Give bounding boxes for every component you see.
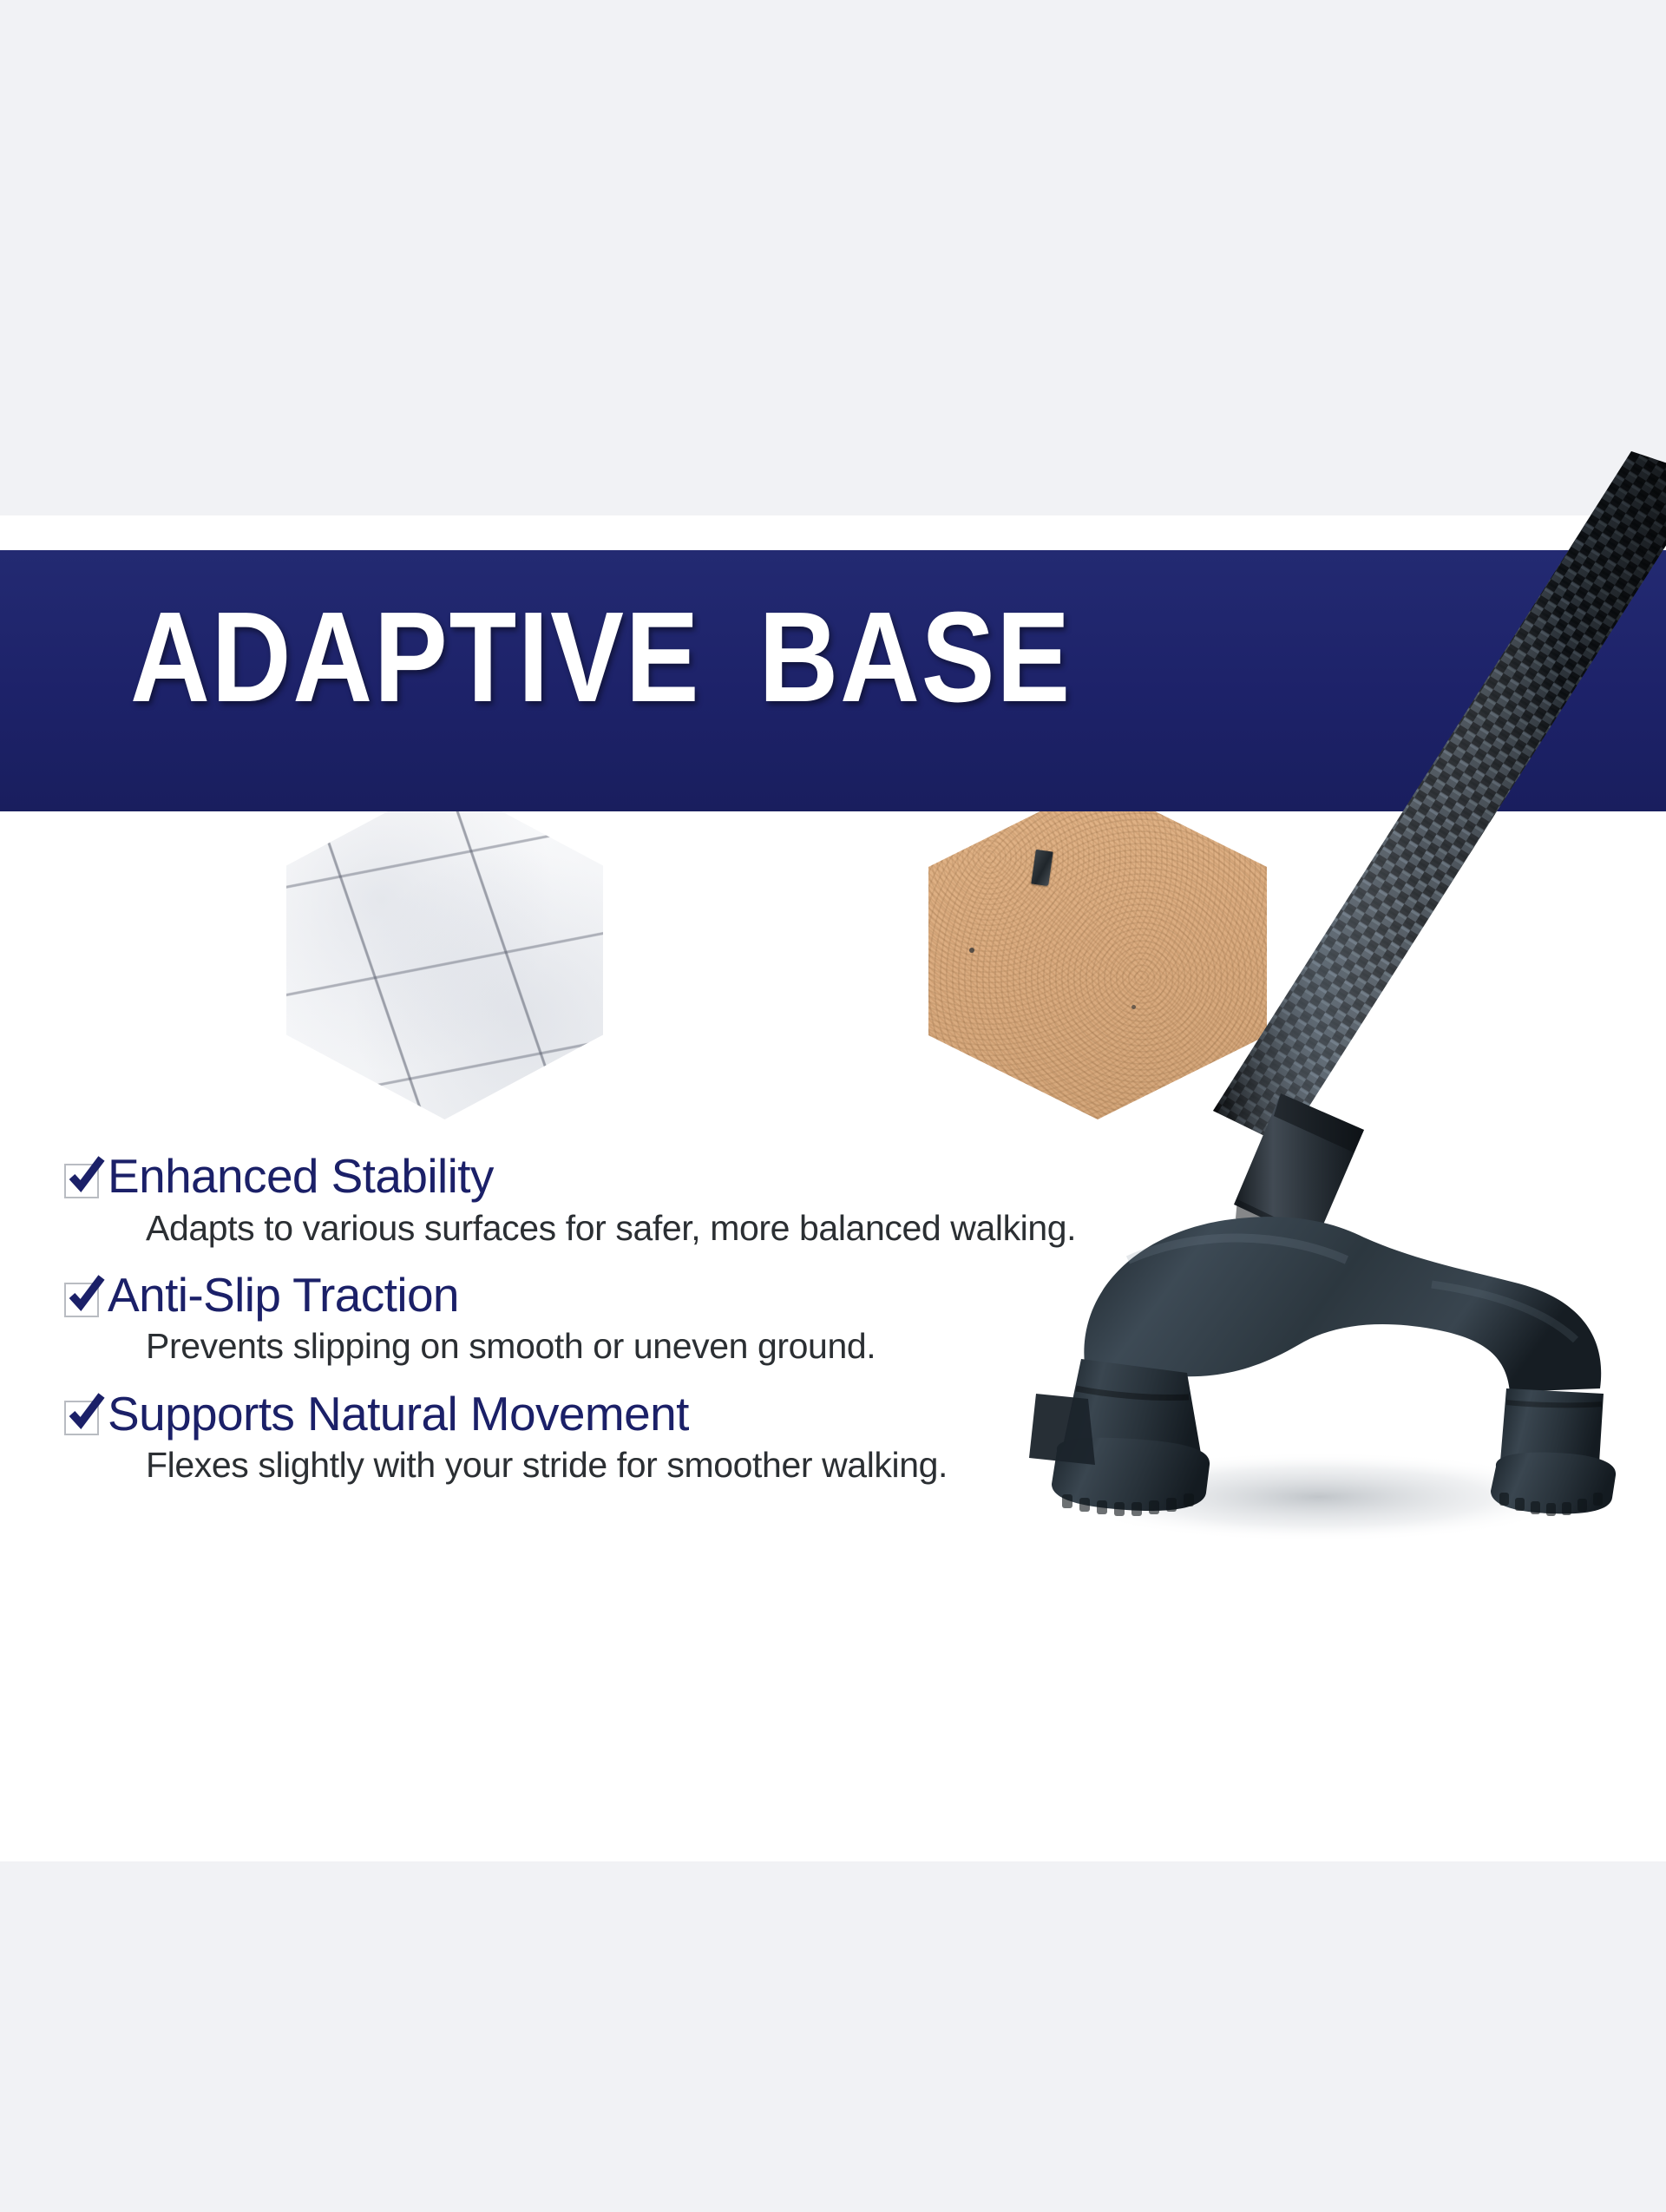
feature-description: Flexes slightly with your stride for smo… xyxy=(146,1444,1208,1487)
surface-hexagon-sand xyxy=(928,783,1267,1119)
gravel-surface-image xyxy=(616,784,902,1116)
feature-heading-row: Anti-Slip Traction xyxy=(62,1269,1208,1323)
sand-surface-image xyxy=(928,783,1267,1119)
surface-hexagon-group xyxy=(286,781,1267,1119)
page-title: ADAPTIVEBASE xyxy=(130,594,1072,722)
feature-title: Anti-Slip Traction xyxy=(108,1269,459,1323)
checkbox-checked-icon xyxy=(62,1159,102,1198)
feature-heading-row: Supports Natural Movement xyxy=(62,1388,1208,1441)
sand-debris-icon xyxy=(1031,849,1053,885)
sand-grain-icon xyxy=(1131,1005,1136,1009)
feature-description: Prevents slipping on smooth or uneven gr… xyxy=(146,1325,1208,1368)
feature-list: Enhanced Stability Adapts to various sur… xyxy=(62,1150,1208,1506)
checkmark-icon xyxy=(65,1274,107,1316)
infographic-page: ADAPTIVEBASE xyxy=(0,0,1666,2212)
title-word-adaptive: ADAPTIVE xyxy=(130,586,700,729)
sand-grain-icon xyxy=(969,948,974,953)
checkbox-checked-icon xyxy=(62,1277,102,1317)
checkmark-icon xyxy=(65,1392,107,1434)
tile-surface-image xyxy=(286,781,603,1119)
title-word-base: BASE xyxy=(758,586,1072,729)
feature-item: Enhanced Stability Adapts to various sur… xyxy=(62,1150,1208,1250)
banner: ADAPTIVEBASE xyxy=(0,550,1666,811)
checkmark-icon xyxy=(65,1155,107,1197)
surface-hexagon-tile xyxy=(286,781,603,1119)
feature-title: Supports Natural Movement xyxy=(108,1388,689,1441)
feature-item: Anti-Slip Traction Prevents slipping on … xyxy=(62,1269,1208,1369)
feature-heading-row: Enhanced Stability xyxy=(62,1150,1208,1204)
feature-item: Supports Natural Movement Flexes slightl… xyxy=(62,1388,1208,1487)
surface-hexagon-gravel xyxy=(616,784,902,1116)
feature-title: Enhanced Stability xyxy=(108,1150,494,1204)
checkbox-checked-icon xyxy=(62,1395,102,1435)
feature-description: Adapts to various surfaces for safer, mo… xyxy=(146,1207,1208,1250)
